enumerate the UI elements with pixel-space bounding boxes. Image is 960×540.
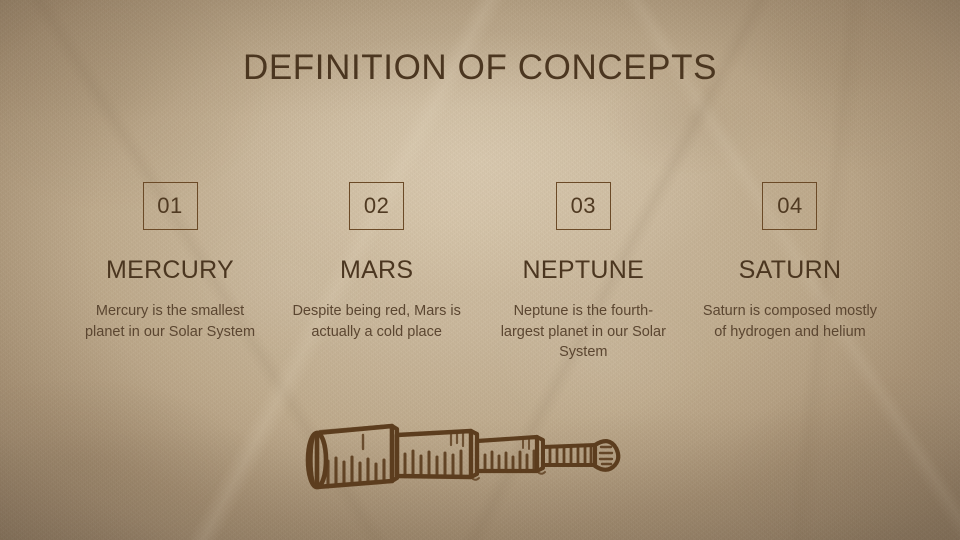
concept-description: Mercury is the smallest planet in our So…	[80, 301, 260, 342]
concept-description: Despite being red, Mars is actually a co…	[287, 301, 467, 342]
concept-number-badge: 01	[143, 182, 198, 230]
concept-column-neptune: 03 NEPTUNE Neptune is the fourth-largest…	[485, 182, 681, 363]
concept-column-saturn: 04 SATURN Saturn is composed mostly of h…	[692, 182, 888, 363]
slide-title: DEFINITION OF CONCEPTS	[0, 48, 960, 88]
concept-description: Saturn is composed mostly of hydrogen an…	[700, 301, 880, 342]
concept-heading: MARS	[340, 256, 413, 285]
concept-column-mars: 02 MARS Despite being red, Mars is actua…	[279, 182, 475, 363]
presentation-slide: DEFINITION OF CONCEPTS 01 MERCURY Mercur…	[0, 0, 960, 540]
concept-heading: NEPTUNE	[523, 256, 645, 285]
concept-column-mercury: 01 MERCURY Mercury is the smallest plane…	[72, 182, 268, 363]
concept-columns: 01 MERCURY Mercury is the smallest plane…	[72, 182, 888, 363]
concept-number-badge: 03	[556, 182, 611, 230]
slide-content: DEFINITION OF CONCEPTS 01 MERCURY Mercur…	[0, 0, 960, 540]
concept-number-badge: 04	[762, 182, 817, 230]
concept-description: Neptune is the fourth-largest planet in …	[493, 301, 673, 363]
concept-heading: SATURN	[739, 256, 842, 285]
concept-number-badge: 02	[349, 182, 404, 230]
concept-heading: MERCURY	[106, 256, 234, 285]
telescope-illustration	[295, 405, 665, 510]
telescope-icon	[295, 405, 665, 510]
